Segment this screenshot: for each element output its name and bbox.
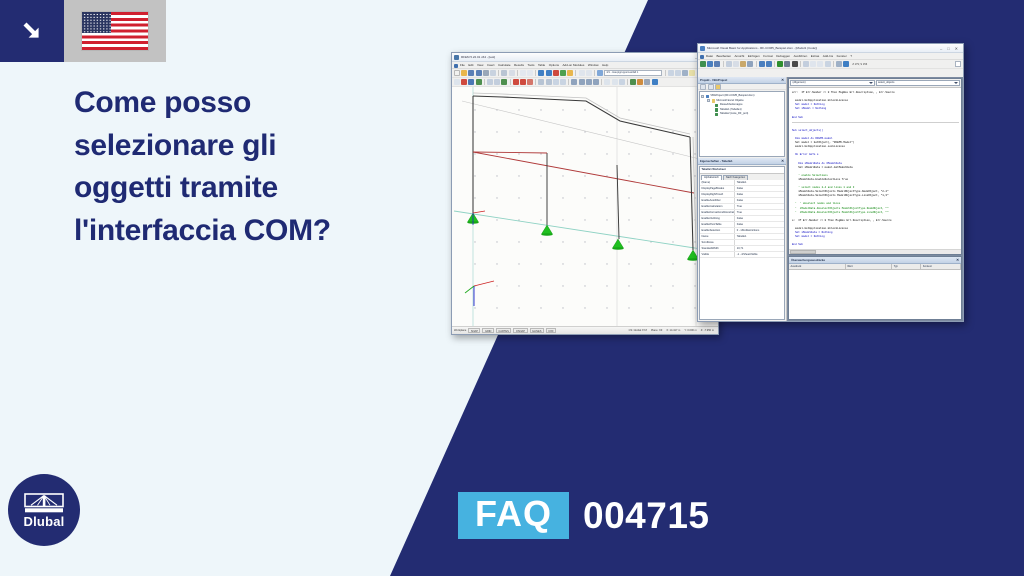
redo-icon[interactable] xyxy=(766,61,772,67)
run-icon[interactable] xyxy=(777,61,783,67)
rotate-icon[interactable] xyxy=(567,70,573,76)
tree-expander[interactable]: - xyxy=(701,95,704,98)
object-browser-icon[interactable] xyxy=(825,61,831,67)
toolbar-separator xyxy=(594,70,595,76)
vba-editor-window[interactable]: Microsoft Visual Basic for Applications … xyxy=(697,43,964,322)
dlubal-wordmark: Dlubal xyxy=(24,515,65,528)
faq-tag: FAQ xyxy=(458,492,569,539)
zoom-all-icon[interactable] xyxy=(560,70,566,76)
rfem-menu-bar[interactable]: File Edit View Insert Calculate Results … xyxy=(452,62,718,69)
vba-menu-bearbeiten[interactable]: Bearbeiten xyxy=(717,54,732,58)
property-value[interactable]: True xyxy=(735,210,784,215)
rfem-model-view[interactable] xyxy=(452,87,718,326)
vba-toolbar-spacer xyxy=(955,61,961,67)
rfem-menu-results[interactable]: Results xyxy=(514,63,524,67)
vba-right-dock: (Allgemein) select_objects err: If Err.N… xyxy=(787,77,963,321)
scrollbar-thumb[interactable] xyxy=(790,250,816,254)
rfem-menu-calculate[interactable]: Calculate xyxy=(498,63,511,67)
property-value[interactable]: 10,71 xyxy=(735,246,784,251)
close-icon[interactable]: ✕ xyxy=(955,46,958,51)
properties-panel[interactable]: Tabelle1 Worksheet Alphabetisch Nach Kat… xyxy=(699,166,785,320)
view-code-icon[interactable] xyxy=(700,84,706,90)
code-line: End Sub xyxy=(792,116,959,120)
toolbox-icon[interactable] xyxy=(836,61,842,67)
watch-rows[interactable] xyxy=(789,270,961,319)
toolbar-separator xyxy=(833,61,834,67)
code-window[interactable]: (Allgemein) select_objects err: If Err.N… xyxy=(788,78,962,255)
status-toggle-glines[interactable]: GLINES xyxy=(530,328,545,334)
cut-icon[interactable] xyxy=(501,70,507,76)
nodal-load-icon[interactable] xyxy=(513,79,519,85)
rfem-menu-options[interactable]: Options xyxy=(549,63,559,67)
vba-title-bar[interactable]: Microsoft Visual Basic for Applications … xyxy=(698,44,963,53)
view-excel-icon[interactable] xyxy=(700,61,706,67)
properties-window-icon[interactable] xyxy=(817,61,823,67)
vba-menu-bar[interactable]: Datei Bearbeiten Ansicht Einfügen Format… xyxy=(698,53,963,60)
minimize-icon[interactable]: – xyxy=(940,46,942,51)
solid-icon[interactable] xyxy=(682,70,688,76)
toolbar-separator xyxy=(800,61,801,67)
toolbar-separator xyxy=(498,70,499,76)
property-key: StandardWidth xyxy=(700,246,735,251)
vba-toolbar[interactable]: Z 179; S 156 xyxy=(698,60,963,69)
undo-icon[interactable] xyxy=(759,61,765,67)
toolbar-separator xyxy=(568,79,569,85)
open-icon[interactable] xyxy=(461,70,467,76)
find-icon[interactable] xyxy=(747,61,753,67)
copy-icon[interactable] xyxy=(509,70,515,76)
load-case-combo[interactable]: 4/1 - Hauptgruppe/Lastfall 1 xyxy=(604,70,662,76)
save-icon[interactable] xyxy=(468,70,474,76)
status-toggle-cartes[interactable]: CARTES xyxy=(496,328,511,334)
visibility-icon[interactable] xyxy=(604,79,610,85)
cross-section-icon[interactable] xyxy=(546,79,552,85)
project-panel-title: Projekt - VBAProject xyxy=(700,78,727,82)
status-workplane-label: Workplane xyxy=(454,329,466,332)
title-line-1: Come posso xyxy=(74,82,404,125)
rfem-title-bar[interactable]: RFEM 5.22.01 x64 - [test] – □ ✕ xyxy=(452,53,718,62)
watch-panel-title: Überwachungsausdrücke xyxy=(791,258,825,262)
arrow-down-right-icon xyxy=(0,0,64,62)
language-badge xyxy=(0,0,166,62)
vba-help-icon[interactable] xyxy=(843,61,849,67)
light-icon[interactable] xyxy=(689,70,695,76)
calculate-icon[interactable] xyxy=(630,79,636,85)
watch-col-ausdruck[interactable]: Ausdruck xyxy=(789,264,846,269)
rfem-menu-table[interactable]: Table xyxy=(538,63,545,67)
vba-menu-ausfuehren[interactable]: Ausführen xyxy=(794,54,808,58)
surface-load-icon[interactable] xyxy=(527,79,533,85)
rfem-menu-view[interactable]: View xyxy=(477,63,483,67)
toolbar-separator xyxy=(484,79,485,85)
toolbar-separator xyxy=(517,70,518,76)
tree-expander[interactable]: - xyxy=(707,99,710,102)
property-value[interactable]: False xyxy=(735,192,784,197)
design-mode-icon[interactable] xyxy=(803,61,809,67)
watch-col-typ[interactable]: Typ xyxy=(892,264,921,269)
watch-col-wert[interactable]: Wert xyxy=(846,264,892,269)
rfem-menu-file[interactable]: File xyxy=(460,63,465,67)
vba-left-dock: Projekt - VBAProject ✕ - VBAProject (RF-… xyxy=(698,77,787,321)
toolbar-separator xyxy=(627,79,628,85)
code-editor[interactable]: err: If Err.Number <> 0 Then MsgBox Err.… xyxy=(789,88,961,249)
toolbar-separator xyxy=(510,79,511,85)
vba-menu-help[interactable]: ? xyxy=(850,54,852,58)
property-key: EnableOutlining xyxy=(700,216,735,221)
table-row[interactable]: Visible -1 - xlSheetVisible xyxy=(700,252,784,258)
stop-icon[interactable] xyxy=(792,61,798,67)
project-panel-toolbar[interactable] xyxy=(698,84,786,90)
rfem-title-text: RFEM 5.22.01 x64 - [test] xyxy=(461,55,495,59)
select-icon[interactable] xyxy=(454,79,460,85)
page-title: Come posso selezionare gli oggetti trami… xyxy=(74,82,404,252)
vba-menu-format[interactable]: Format xyxy=(763,54,773,58)
grid-icon[interactable] xyxy=(586,70,592,76)
code-horizontal-scrollbar[interactable] xyxy=(789,249,961,254)
redo-icon[interactable] xyxy=(527,70,533,76)
view-object-icon[interactable] xyxy=(708,84,714,90)
toolbar-separator xyxy=(601,79,602,85)
project-panel-header[interactable]: Projekt - VBAProject ✕ xyxy=(698,77,786,84)
property-value[interactable]: False xyxy=(735,222,784,227)
help-icon[interactable] xyxy=(652,79,658,85)
status-toggle-osnap[interactable]: OSNAP xyxy=(513,328,527,334)
eccentricity-icon[interactable] xyxy=(560,79,566,85)
rfem-status-bar[interactable]: Workplane SNAP GRID CARTES OSNAP GLINES … xyxy=(452,326,718,334)
faq-number: 004715 xyxy=(583,497,709,534)
status-coord-y: Y: 0.000 m xyxy=(684,329,696,332)
status-coordinates: CS: Global XYZ Plane: XZ X: 14.417 m Y: … xyxy=(629,329,716,332)
us-flag-icon xyxy=(64,0,166,62)
status-cs: CS: Global XYZ xyxy=(629,329,647,332)
vba-toolbar-position: Z 179; S 156 xyxy=(852,63,867,66)
code-dropdowns[interactable]: (Allgemein) select_objects xyxy=(789,79,961,88)
title-line-3: oggetti tramite xyxy=(74,167,404,210)
property-key: (Name) xyxy=(700,180,735,185)
property-value[interactable]: False xyxy=(735,216,784,221)
line-load-icon[interactable] xyxy=(520,79,526,85)
view-top-icon[interactable] xyxy=(579,79,585,85)
toolbar-separator xyxy=(723,61,724,67)
status-coord-x: X: 14.417 m xyxy=(666,329,680,332)
title-line-4: l'interfaccia COM? xyxy=(74,210,404,253)
project-tree[interactable]: - VBAProject (RF-COM5_Beispiel.xlsm) - M… xyxy=(699,91,785,157)
preview-icon[interactable] xyxy=(490,70,496,76)
status-toggle-dxf[interactable]: DXF xyxy=(546,328,556,334)
workbook-icon xyxy=(715,104,718,107)
close-icon[interactable]: ✕ xyxy=(956,258,959,262)
layer-icon[interactable] xyxy=(612,79,618,85)
line-icon[interactable] xyxy=(468,79,474,85)
property-value[interactable]: False xyxy=(735,186,784,191)
view-front-icon[interactable] xyxy=(571,79,577,85)
property-key: EnableAutoFilter xyxy=(700,198,735,203)
vba-window-buttons[interactable]: – □ ✕ xyxy=(940,46,961,51)
tree-item-sheet2[interactable]: Tabelle2 (Liste_RF_port) xyxy=(701,112,783,117)
faq-footer: FAQ 004715 xyxy=(458,492,709,539)
property-value[interactable] xyxy=(735,240,784,245)
loadcase-icon[interactable] xyxy=(597,70,603,76)
hinge-icon[interactable] xyxy=(553,79,559,85)
table-icon[interactable] xyxy=(579,70,585,76)
solid-object-icon[interactable] xyxy=(494,79,500,85)
flag-canton xyxy=(82,12,111,33)
status-plane: Plane: XZ xyxy=(651,329,662,332)
vba-menu-addins[interactable]: Add-Ins xyxy=(823,54,833,58)
close-icon[interactable]: ✕ xyxy=(781,159,784,163)
restore-icon[interactable]: □ xyxy=(947,46,949,51)
cut-icon[interactable] xyxy=(726,61,732,67)
property-value[interactable]: False xyxy=(735,198,784,203)
vba-app-icon xyxy=(700,46,705,51)
zoom-in-icon[interactable] xyxy=(538,70,544,76)
property-value[interactable]: True xyxy=(735,204,784,209)
node-icon[interactable] xyxy=(461,79,467,85)
watch-panel-header[interactable]: Überwachungsausdrücke ✕ xyxy=(789,257,961,264)
material-icon[interactable] xyxy=(538,79,544,85)
vba-menu-extras[interactable]: Extras xyxy=(811,54,820,58)
property-key: EnablePivotTable xyxy=(700,222,735,227)
insert-module-icon[interactable] xyxy=(707,61,713,67)
property-key: EnableFormatConditionsCalculation xyxy=(700,210,735,215)
toolbar-separator xyxy=(774,61,775,67)
vba-menu-einfuegen[interactable]: Einfügen xyxy=(748,54,760,58)
pause-icon[interactable] xyxy=(784,61,790,67)
save-icon[interactable] xyxy=(714,61,720,67)
member-icon[interactable] xyxy=(476,79,482,85)
property-value[interactable]: -1 - xlSheetVisible xyxy=(735,252,784,257)
view-iso-icon[interactable] xyxy=(593,79,599,85)
surface-icon[interactable] xyxy=(487,79,493,85)
zoom-out-icon[interactable] xyxy=(546,70,552,76)
vba-menu-debuggen[interactable]: Debuggen xyxy=(776,54,790,58)
property-key: DisplayRightToLeft xyxy=(700,192,735,197)
title-line-2: selezionare gli xyxy=(74,125,404,168)
new-icon[interactable] xyxy=(454,70,460,76)
rfem-menu-tools[interactable]: Tools xyxy=(528,63,535,67)
rfem-app-icon xyxy=(454,55,459,60)
status-coord-z: Z: -7.950 m xyxy=(701,329,714,332)
support-icon[interactable] xyxy=(501,79,507,85)
rfem-menu-window[interactable]: Window xyxy=(588,63,599,67)
paste-icon[interactable] xyxy=(740,61,746,67)
properties-panel-header[interactable]: Eigenschaften - Tabelle1 ✕ xyxy=(698,158,786,165)
watch-window[interactable]: Überwachungsausdrücke ✕ Ausdruck Wert Ty… xyxy=(788,256,962,320)
toolbar-separator xyxy=(575,70,576,76)
property-key: EnableCalculation xyxy=(700,204,735,209)
code-procedure-dropdown[interactable]: select_objects xyxy=(876,80,961,86)
undo-icon[interactable] xyxy=(520,70,526,76)
property-value[interactable]: Tabelle1 xyxy=(735,234,784,239)
wireframe-icon[interactable] xyxy=(675,70,681,76)
code-procedure-separator xyxy=(792,122,959,123)
property-value[interactable]: Tabelle1 xyxy=(735,180,784,185)
property-key: Name xyxy=(700,234,735,239)
toolbar-separator xyxy=(665,70,666,76)
sheet-icon xyxy=(715,108,718,111)
code-scope-dropdown[interactable]: (Allgemein) xyxy=(790,80,875,86)
close-icon[interactable]: ✕ xyxy=(781,78,784,82)
rfem-toolbar-row-1[interactable]: 4/1 - Hauptgruppe/Lastfall 1 xyxy=(452,69,718,78)
vba-workspace: Projekt - VBAProject ✕ - VBAProject (RF-… xyxy=(698,77,963,321)
toolbar-separator xyxy=(535,79,536,85)
properties-rows[interactable]: (Name) Tabelle1 DisplayPageBreaks False … xyxy=(700,180,784,320)
vba-title-text: Microsoft Visual Basic for Applications … xyxy=(707,46,817,50)
property-key: DisplayPageBreaks xyxy=(700,186,735,191)
rfem-window[interactable]: RFEM 5.22.01 x64 - [test] – □ ✕ File Edi… xyxy=(451,52,719,335)
truss-frame-icon xyxy=(24,493,64,513)
copy-icon[interactable] xyxy=(733,61,739,67)
rfem-menu-edit[interactable]: Edit xyxy=(468,63,473,67)
watch-col-kontext[interactable]: Kontext xyxy=(921,264,961,269)
vba-menu-icon xyxy=(700,55,704,59)
rfem-menu-icon xyxy=(454,64,458,68)
render-icon[interactable] xyxy=(668,70,674,76)
property-value[interactable]: 0 - xlNoRestrictions xyxy=(735,228,784,233)
rfem-menu-help[interactable]: Help xyxy=(602,63,608,67)
results-icon[interactable] xyxy=(637,79,643,85)
save-as-icon[interactable] xyxy=(476,70,482,76)
status-toggle-snap[interactable]: SNAP xyxy=(468,328,480,334)
toggle-folders-icon[interactable] xyxy=(715,84,721,90)
printout-icon[interactable] xyxy=(644,79,650,85)
rfem-menu-addons[interactable]: Add-on Modules xyxy=(563,63,585,67)
dlubal-logo: Dlubal xyxy=(8,474,80,546)
rfem-menu-insert[interactable]: Insert xyxy=(487,63,495,67)
property-key: ScrollArea xyxy=(700,240,735,245)
rfem-toolbar-row-2[interactable] xyxy=(452,78,718,87)
tree-label: Tabelle2 (Liste_RF_port) xyxy=(720,112,748,117)
rfem-model-svg xyxy=(452,87,718,326)
property-key: Visible xyxy=(700,252,735,257)
properties-panel-title: Eigenschaften - Tabelle1 xyxy=(700,159,733,163)
property-key: EnableSelection xyxy=(700,228,735,233)
us-flag-graphic xyxy=(82,12,148,50)
toolbar-separator xyxy=(535,70,536,76)
project-explorer-icon[interactable] xyxy=(810,61,816,67)
vba-menu-fenster[interactable]: Fenster xyxy=(837,54,847,58)
toolbar-separator xyxy=(756,61,757,67)
zoom-window-icon[interactable] xyxy=(553,70,559,76)
project-icon xyxy=(706,95,709,98)
section-icon[interactable] xyxy=(619,79,625,85)
status-toggle-grid[interactable]: GRID xyxy=(482,328,493,334)
sheet-icon xyxy=(715,113,718,116)
folder-icon xyxy=(712,99,715,102)
vba-menu-datei[interactable]: Datei xyxy=(706,54,713,58)
print-icon[interactable] xyxy=(483,70,489,76)
view-side-icon[interactable] xyxy=(586,79,592,85)
vba-menu-ansicht[interactable]: Ansicht xyxy=(735,54,745,58)
